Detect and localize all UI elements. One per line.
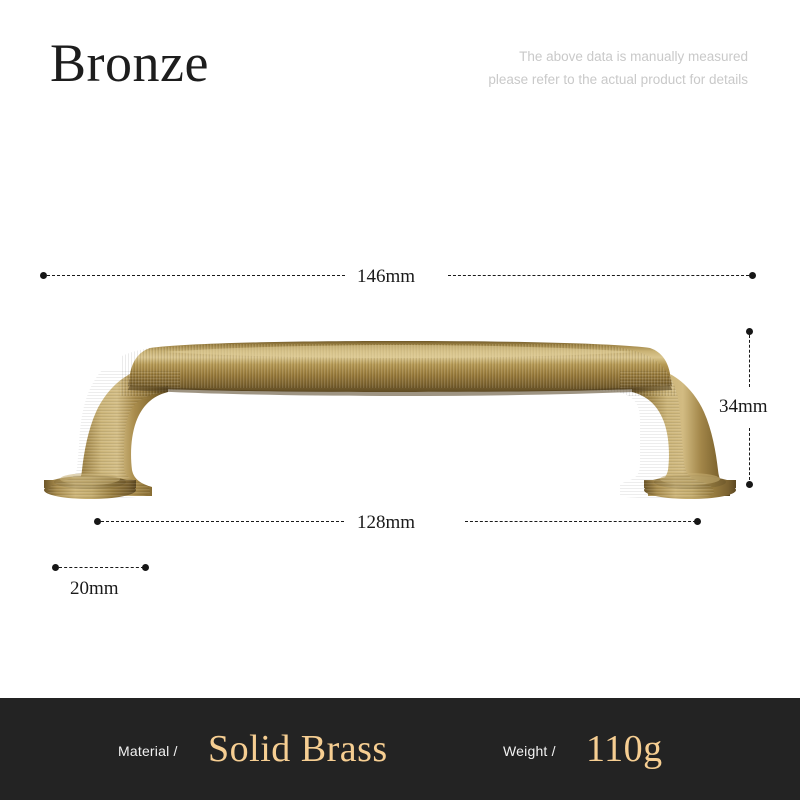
dim-20-line: [59, 567, 144, 568]
brushed-texture: [40, 338, 760, 500]
dim-128-dot-left: [94, 518, 101, 525]
weight-label: Weight /: [503, 743, 556, 759]
material-value: Solid Brass: [208, 727, 388, 771]
dim-34-dot-top: [746, 328, 753, 335]
dim-128-dot-right: [694, 518, 701, 525]
dim-34-line-top: [749, 335, 750, 387]
dim-128-label: 128mm: [357, 512, 415, 534]
dim-20-dot-left: [52, 564, 59, 571]
handle-illustration: [0, 300, 800, 510]
disclaimer-line-2: please refer to the actual product for d…: [488, 68, 748, 91]
dim-34-dot-bottom: [746, 481, 753, 488]
dim-128-line-left: [101, 521, 344, 522]
disclaimer-line-1: The above data is manually measured: [488, 45, 748, 68]
dim-146-line-left: [47, 275, 345, 276]
dim-20-label: 20mm: [70, 578, 119, 600]
dim-34-line-bottom: [749, 428, 750, 480]
dim-146-label: 146mm: [357, 266, 415, 288]
weight-value: 110g: [586, 727, 663, 771]
dim-128-line-right: [465, 521, 696, 522]
material-label: Material /: [118, 743, 178, 759]
product-spec-sheet: Bronze The above data is manually measur…: [0, 0, 800, 800]
measurement-disclaimer: The above data is manually measured plea…: [488, 45, 748, 91]
dim-20-dot-right: [142, 564, 149, 571]
dim-146-dot-left: [40, 272, 47, 279]
dim-146-dot-right: [749, 272, 756, 279]
page-title: Bronze: [50, 33, 209, 93]
dim-146-line-right: [448, 275, 749, 276]
dim-34-label: 34mm: [719, 396, 768, 418]
